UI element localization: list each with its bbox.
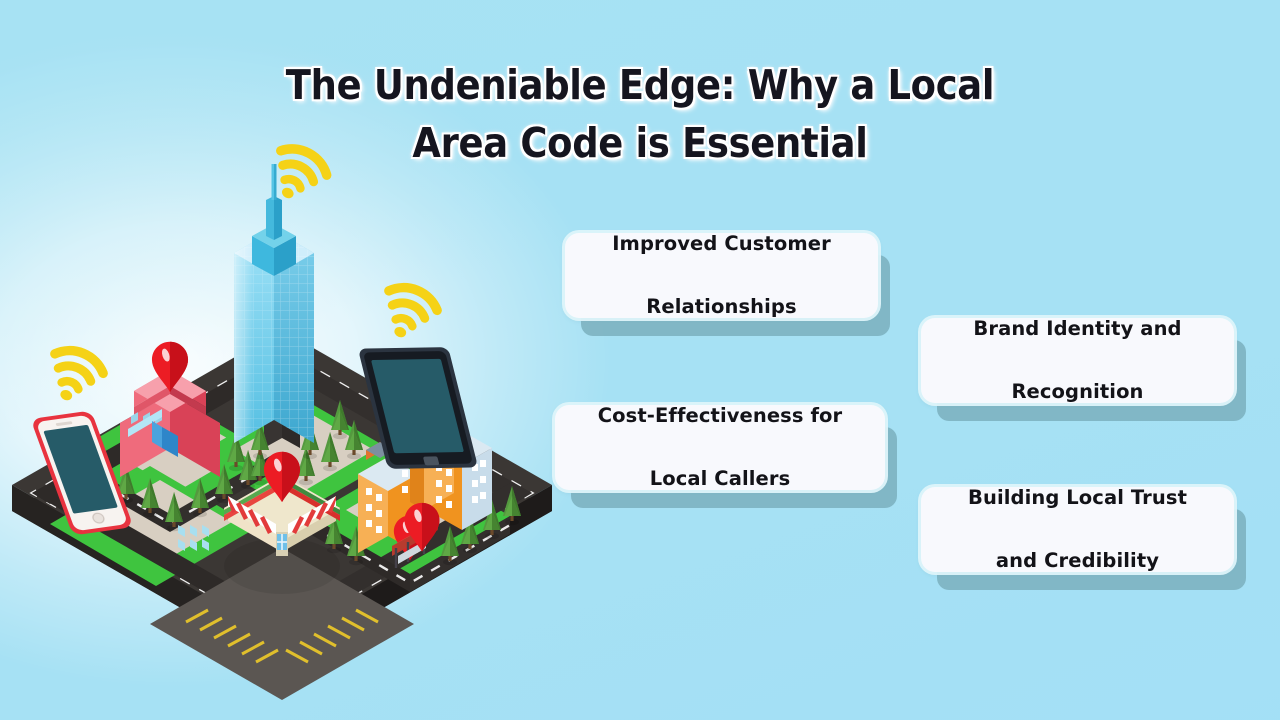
skyscraper-building bbox=[234, 164, 314, 443]
infographic-canvas: The Undeniable Edge: Why a Local Area Co… bbox=[0, 0, 1280, 720]
benefit-card-line-2: Local Callers bbox=[573, 463, 867, 495]
benefit-card-building-local-trust-and-credibility[interactable]: Building Local Trust and Credibility bbox=[921, 487, 1234, 572]
benefit-card-cost-effectiveness-for-local-callers[interactable]: Cost-Effectiveness for Local Callers bbox=[555, 405, 885, 490]
benefit-card-text: Building Local Trust and Credibility bbox=[939, 482, 1216, 577]
page-title-line-1: The Undeniable Edge: Why a Local bbox=[190, 57, 1090, 114]
benefit-card-line-2: Recognition bbox=[939, 376, 1216, 408]
benefit-card-line-2: Relationships bbox=[583, 291, 860, 323]
benefit-card-text: Brand Identity and Recognition bbox=[939, 313, 1216, 408]
benefit-card-improved-customer-relationships[interactable]: Improved Customer Relationships bbox=[565, 233, 878, 318]
benefit-card-brand-identity-and-recognition[interactable]: Brand Identity and Recognition bbox=[921, 318, 1234, 403]
page-title: The Undeniable Edge: Why a Local Area Co… bbox=[190, 57, 1090, 172]
benefit-card-line-1: Building Local Trust bbox=[939, 482, 1216, 514]
benefit-card-line-2: and Credibility bbox=[939, 545, 1216, 577]
benefit-card-text: Cost-Effectiveness for Local Callers bbox=[573, 400, 867, 495]
isometric-city-illustration bbox=[10, 148, 570, 708]
tablet-wifi-icon bbox=[374, 281, 441, 347]
smartphone-wifi-icon bbox=[40, 344, 107, 410]
page-title-line-2: Area Code is Essential bbox=[190, 115, 1090, 172]
benefit-card-line-1: Brand Identity and bbox=[939, 313, 1216, 345]
benefit-card-line-1: Improved Customer bbox=[583, 228, 860, 260]
benefit-card-text: Improved Customer Relationships bbox=[583, 228, 860, 323]
benefit-card-line-1: Cost-Effectiveness for bbox=[573, 400, 867, 432]
